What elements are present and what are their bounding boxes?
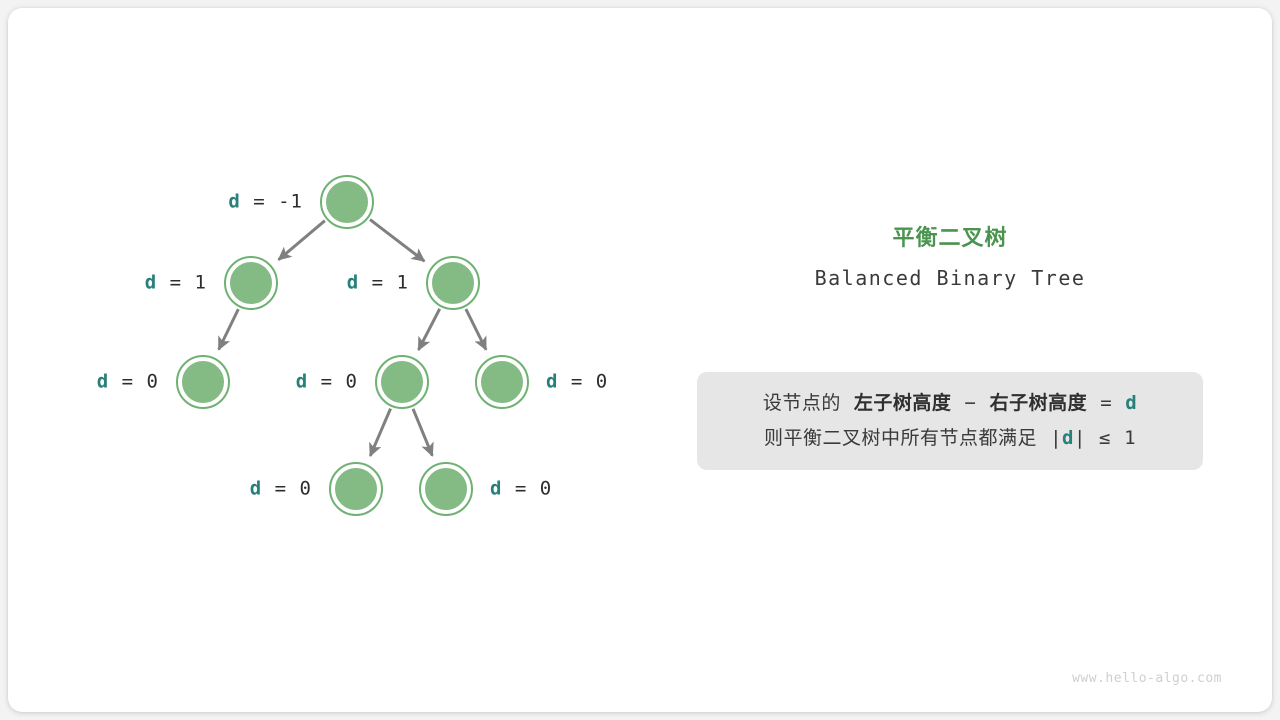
node-balance-label: d = 1 [347, 274, 409, 293]
tree-node[interactable] [225, 257, 277, 309]
tree-edge [466, 309, 486, 350]
node-balance-label: d = -1 [228, 193, 303, 212]
node-circle [325, 180, 369, 224]
tree-edge [413, 409, 432, 456]
tree-edge [370, 220, 424, 262]
tree-nodes [177, 176, 528, 515]
node-balance-label: d = 0 [490, 480, 552, 499]
tree-node[interactable] [321, 176, 373, 228]
formula-term-right: 右子树高度 [990, 392, 1088, 414]
label-value: = 1 [359, 272, 409, 294]
tree-node[interactable] [476, 356, 528, 408]
bound-value: 1 [1124, 427, 1136, 449]
label-variable-d: d [296, 371, 308, 393]
formula-term-left: 左子树高度 [854, 392, 952, 414]
abs-bar-close: | [1074, 427, 1086, 449]
node-balance-label: d = 0 [97, 373, 159, 392]
page-subtitle: Balanced Binary Tree [697, 266, 1203, 290]
formula-result-d: d [1125, 392, 1137, 414]
tree-node[interactable] [420, 463, 472, 515]
node-circle [229, 261, 273, 305]
tree-node[interactable] [177, 356, 229, 408]
label-value: = 0 [109, 371, 159, 393]
node-circle [431, 261, 475, 305]
site-watermark: www.hello-algo.com [1072, 671, 1222, 686]
comparator-sign: ≤ [1099, 427, 1111, 449]
formula-prefix-2: 则平衡二叉树中所有节点都满足 [764, 427, 1037, 449]
label-variable-d: d [97, 371, 109, 393]
label-variable-d: d [546, 371, 558, 393]
label-variable-d: d [228, 191, 240, 213]
label-value: = 0 [558, 371, 608, 393]
label-value: = 1 [157, 272, 207, 294]
label-variable-d: d [145, 272, 157, 294]
tree-edge [370, 409, 390, 456]
tree-edges [219, 220, 486, 456]
formula-equals-sign: = [1100, 392, 1112, 414]
label-value: = 0 [308, 371, 358, 393]
node-circle [380, 360, 424, 404]
formula-abs-d: d [1062, 427, 1074, 449]
node-circle [181, 360, 225, 404]
node-balance-label: d = 1 [145, 274, 207, 293]
node-circle [424, 467, 468, 511]
tree-edge [418, 309, 439, 350]
node-balance-label: d = 0 [546, 373, 608, 392]
tree-node[interactable] [376, 356, 428, 408]
tree-edge [219, 309, 239, 350]
page-root: d = -1d = 1d = 1d = 0d = 0d = 0d = 0d = … [0, 0, 1280, 720]
node-circle [480, 360, 524, 404]
tree-node[interactable] [427, 257, 479, 309]
tree-node[interactable] [330, 463, 382, 515]
formula-line-1: 设节点的 左子树高度 − 右子树高度 = d [697, 386, 1203, 421]
label-variable-d: d [490, 478, 502, 500]
formula-callout-box: 设节点的 左子树高度 − 右子树高度 = d 则平衡二叉树中所有节点都满足 |d… [697, 372, 1203, 470]
abs-bar-open: | [1050, 427, 1062, 449]
node-circle [334, 467, 378, 511]
label-value: = 0 [262, 478, 312, 500]
node-balance-label: d = 0 [296, 373, 358, 392]
formula-prefix-1: 设节点的 [763, 392, 841, 414]
page-title: 平衡二叉树 [697, 225, 1203, 254]
label-variable-d: d [347, 272, 359, 294]
node-balance-label: d = 0 [250, 480, 312, 499]
tree-edge [279, 221, 325, 260]
formula-line-2: 则平衡二叉树中所有节点都满足 |d| ≤ 1 [697, 421, 1203, 456]
info-panel: 平衡二叉树 Balanced Binary Tree [697, 225, 1203, 290]
label-value: = 0 [502, 478, 552, 500]
formula-minus-sign: − [965, 392, 977, 414]
label-variable-d: d [250, 478, 262, 500]
binary-tree-diagram [0, 0, 1280, 720]
label-value: = -1 [241, 191, 303, 213]
